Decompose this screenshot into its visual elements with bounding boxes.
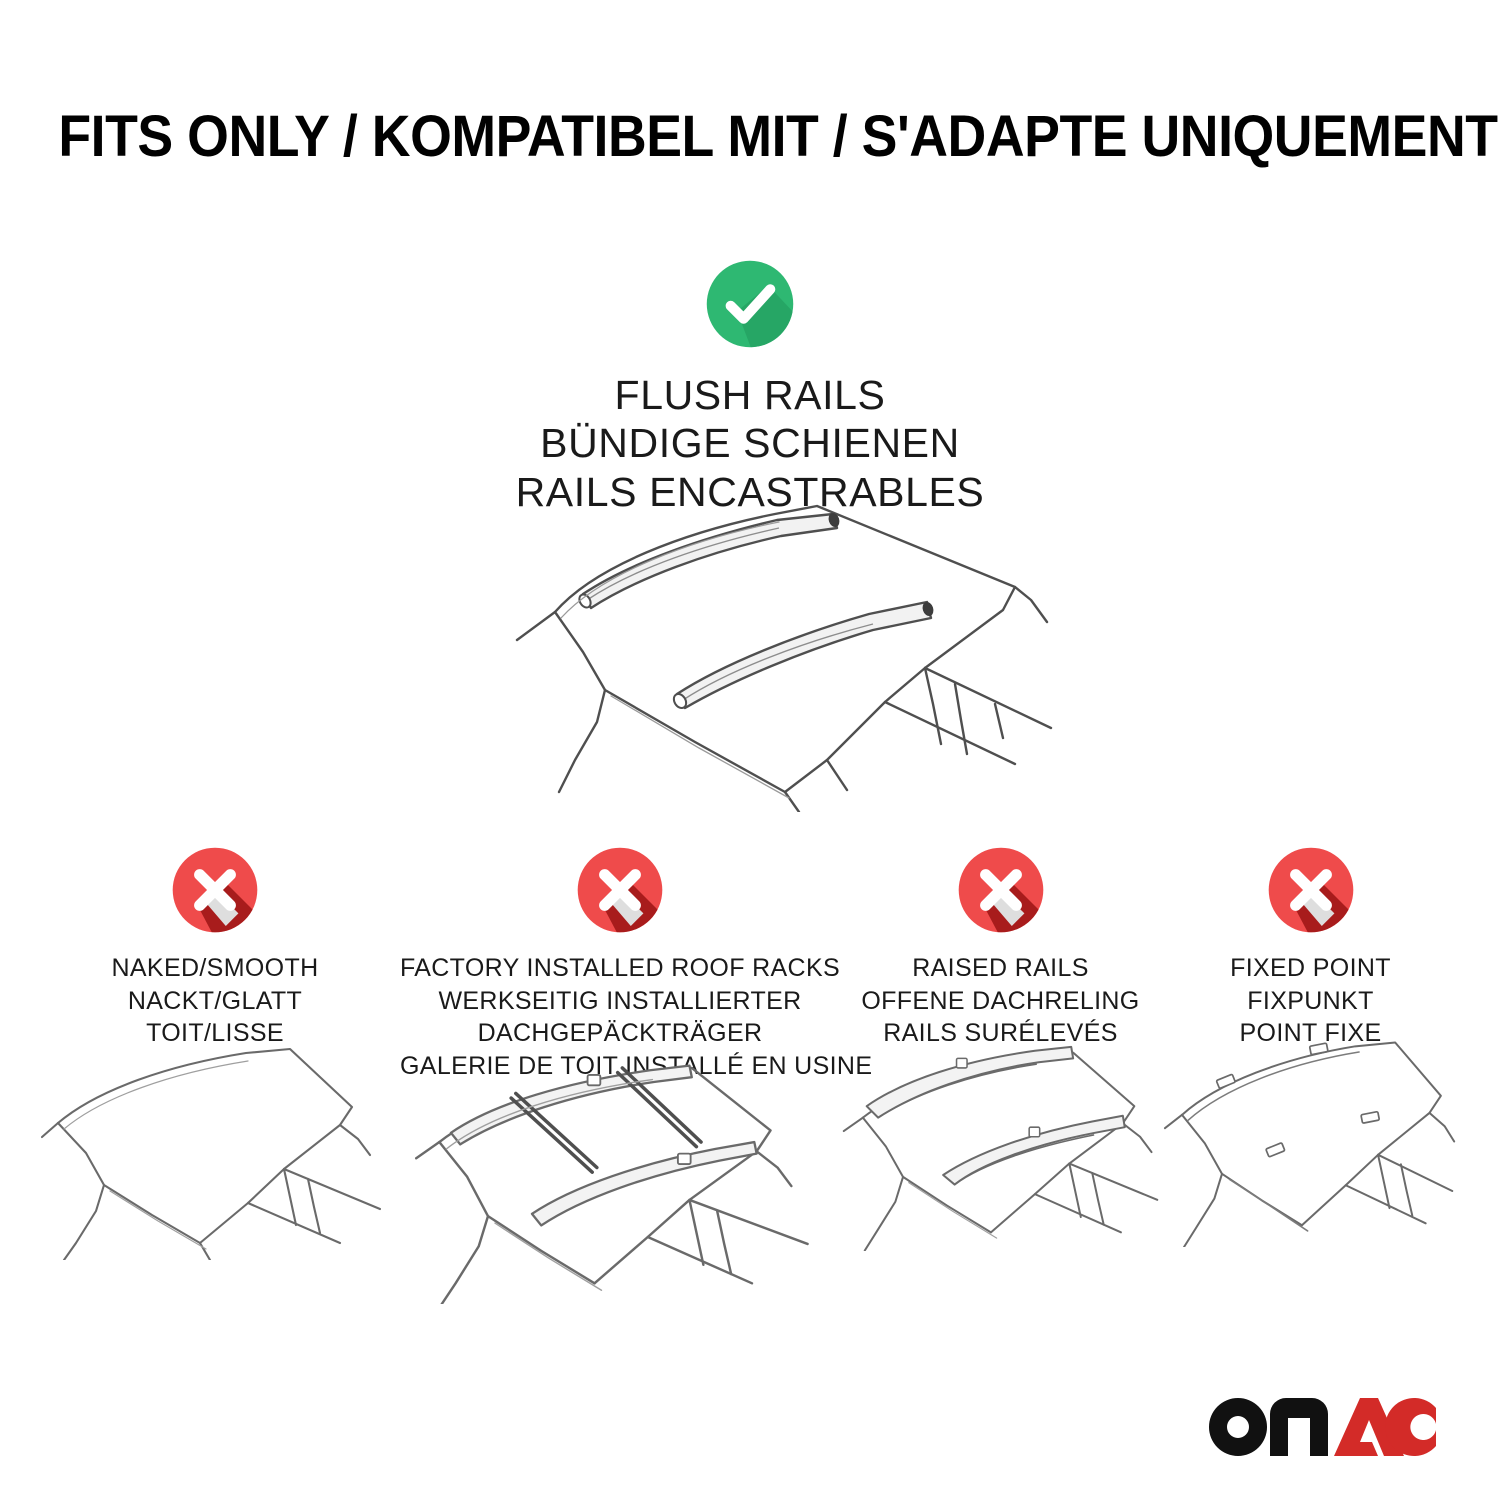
red-x-circle-icon [575, 845, 665, 935]
incompatible-label-en: NAKED/SMOOTH [40, 952, 390, 985]
incompatible-item-raised-rails: RAISED RAILS OFFENE DACHRELING RAILS SUR… [838, 845, 1163, 1050]
incompatible-label-en: FACTORY INSTALLED ROOF RACKS [400, 952, 840, 985]
incompatible-label-de: OFFENE DACHRELING [838, 985, 1163, 1018]
incompatible-section: NAKED/SMOOTH NACKT/GLATT TOIT/LISSE [0, 845, 1500, 1315]
red-x-circle-icon [1266, 845, 1356, 935]
compatible-label-en: FLUSH RAILS [0, 371, 1500, 419]
incompatible-label-de-1: WERKSEITIG INSTALLIERTER [400, 985, 840, 1018]
incompatible-label-de: NACKT/GLATT [40, 985, 390, 1018]
red-x-circle-icon [170, 845, 260, 935]
incompatible-label-en: FIXED POINT [1163, 952, 1458, 985]
car-roof-with-raised-rails-illustration [838, 1045, 1163, 1251]
red-x-circle-icon [956, 845, 1046, 935]
incompatible-labels: NAKED/SMOOTH NACKT/GLATT TOIT/LISSE [40, 952, 390, 1050]
incompatible-labels: RAISED RAILS OFFENE DACHRELING RAILS SUR… [838, 952, 1163, 1050]
compatible-section: FLUSH RAILS BÜNDIGE SCHIENEN RAILS ENCAS… [0, 258, 1500, 516]
page-title: FITS ONLY / KOMPATIBEL MIT / S'ADAPTE UN… [58, 108, 1497, 166]
car-roof-with-flush-rails-illustration [455, 492, 1055, 812]
incompatible-label-en: RAISED RAILS [838, 952, 1163, 985]
incompatible-item-naked-smooth: NAKED/SMOOTH NACKT/GLATT TOIT/LISSE [40, 845, 390, 1050]
incompatible-label-de: FIXPUNKT [1163, 985, 1458, 1018]
omac-logo-letter-m [1270, 1398, 1328, 1456]
incompatible-label-de-2: DACHGEPÄCKTRÄGER [400, 1017, 840, 1050]
car-roof-bare-illustration [40, 1045, 390, 1260]
incompatible-item-fixed-point: FIXED POINT FIXPUNKT POINT FIXE [1163, 845, 1458, 1050]
omac-logo-letter-o [1209, 1398, 1267, 1456]
incompatible-item-factory-roof-racks: FACTORY INSTALLED ROOF RACKS WERKSEITIG … [400, 845, 840, 1082]
green-check-circle-icon [704, 258, 796, 350]
car-roof-with-factory-crossbars-illustration [400, 1061, 840, 1304]
page-title-bar: FITS ONLY / KOMPATIBEL MIT / S'ADAPTE UN… [0, 108, 1500, 166]
car-roof-with-fixed-points-illustration [1163, 1033, 1458, 1247]
omac-logo [1208, 1396, 1438, 1458]
compatible-label-de: BÜNDIGE SCHIENEN [0, 419, 1500, 467]
